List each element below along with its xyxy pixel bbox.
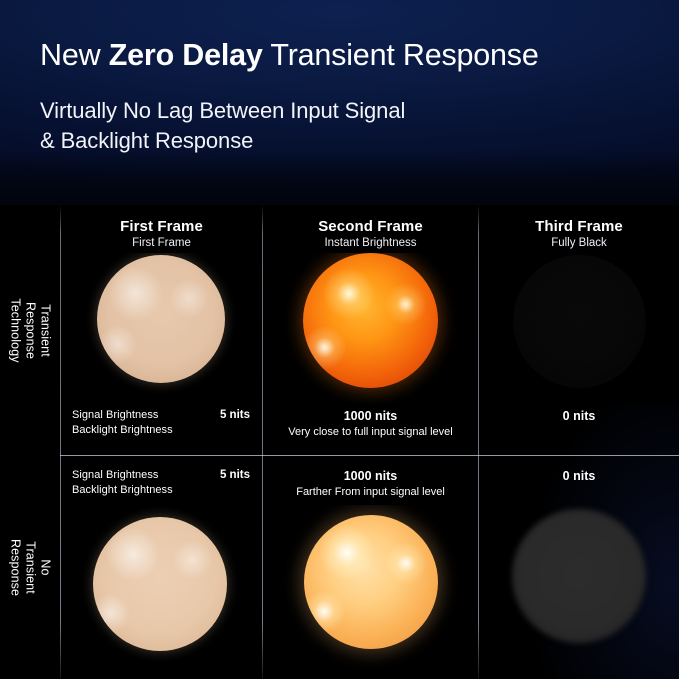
backlight-brightness-label: Backlight Brightness <box>72 423 173 438</box>
backlight-brightness-label: Backlight Brightness <box>72 483 173 498</box>
signal-brightness-label: Signal Brightness <box>72 408 158 423</box>
signal-brightness-value: 5 nits <box>220 408 250 423</box>
caption-signal-brightness: Signal Brightness 5 nits <box>72 408 250 423</box>
caption-row2-third-frame: 0 nits <box>479 468 679 485</box>
comparison-grid: First Frame First Frame Second Frame Ins… <box>0 205 679 679</box>
row-label-text: Transient Response Technology <box>8 298 53 362</box>
title-emphasis: Zero Delay <box>109 38 263 72</box>
cell-row2-third-frame <box>479 505 679 679</box>
cell-row2-second-frame <box>263 505 478 679</box>
sun-disc-black-icon <box>513 255 646 388</box>
divider-vertical-left <box>60 205 61 679</box>
cell-row1-first-frame <box>61 253 262 403</box>
hero-banner: New Zero Delay Transient Response Virtua… <box>0 0 679 208</box>
column-header-second-frame: Second Frame Instant Brightness <box>263 217 478 251</box>
caption-row2-first-frame: Signal Brightness 5 nits Backlight Brigh… <box>72 468 250 498</box>
column-header-subtitle: Instant Brightness <box>263 236 478 251</box>
caption-row1-first-frame: Signal Brightness 5 nits Backlight Brigh… <box>72 408 250 438</box>
brightness-value: 0 nits <box>479 468 679 485</box>
column-header-third-frame: Third Frame Fully Black <box>479 217 679 251</box>
caption-signal-brightness: Signal Brightness 5 nits <box>72 468 250 483</box>
brightness-note: Farther From input signal level <box>263 485 478 500</box>
divider-vertical-right <box>478 205 479 679</box>
divider-vertical-middle <box>262 205 263 679</box>
subtitle-line-1: Virtually No Lag Between Input Signal <box>40 96 640 126</box>
title-prefix: New <box>40 38 109 72</box>
sun-disc-dim-icon <box>93 517 227 651</box>
signal-brightness-label: Signal Brightness <box>72 468 158 483</box>
brightness-value: 1000 nits <box>263 408 478 425</box>
row-label-text: No Transient Response <box>8 538 53 598</box>
cell-row1-second-frame <box>263 253 478 403</box>
sun-disc-dim-icon <box>97 255 225 383</box>
brightness-note: Very close to full input signal level <box>263 425 478 440</box>
caption-row2-second-frame: 1000 nits Farther From input signal leve… <box>263 468 478 500</box>
column-header-subtitle: First Frame <box>61 236 262 251</box>
sun-disc-gray-icon <box>512 509 646 643</box>
promo-graphic: New Zero Delay Transient Response Virtua… <box>0 0 679 679</box>
column-header-title: Second Frame <box>263 217 478 236</box>
brightness-value: 1000 nits <box>263 468 478 485</box>
page-subtitle: Virtually No Lag Between Input Signal & … <box>40 96 640 156</box>
caption-row1-second-frame: 1000 nits Very close to full input signa… <box>263 408 478 440</box>
divider-horizontal-row <box>60 455 679 456</box>
subtitle-line-2: & Backlight Response <box>40 126 640 156</box>
caption-backlight-brightness: Backlight Brightness <box>72 423 250 438</box>
cell-row1-third-frame <box>479 253 679 403</box>
page-title: New Zero Delay Transient Response <box>40 36 660 74</box>
caption-row1-third-frame: 0 nits <box>479 408 679 425</box>
sun-disc-bright-icon <box>303 253 438 388</box>
row-label-transient-response-technology: Transient Response Technology <box>0 205 60 455</box>
column-header-title: Third Frame <box>479 217 679 236</box>
row-label-no-transient-response: No Transient Response <box>0 456 60 679</box>
sun-disc-bright-washed-icon <box>304 515 438 649</box>
cell-row2-first-frame <box>61 505 262 679</box>
column-header-subtitle: Fully Black <box>479 236 679 251</box>
brightness-value: 0 nits <box>479 408 679 425</box>
title-suffix: Transient Response <box>263 38 539 72</box>
column-header-title: First Frame <box>61 217 262 236</box>
caption-backlight-brightness: Backlight Brightness <box>72 483 250 498</box>
signal-brightness-value: 5 nits <box>220 468 250 483</box>
column-header-first-frame: First Frame First Frame <box>61 217 262 251</box>
